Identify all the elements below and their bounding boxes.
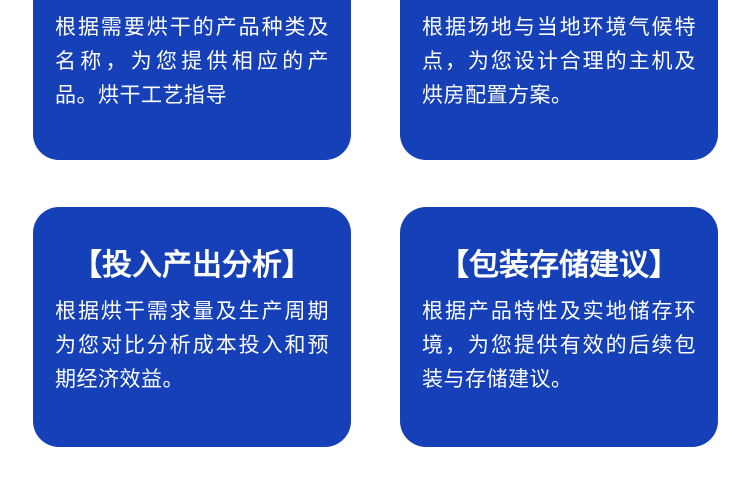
- page-root: 根据需要烘干的产品种类及名称，为您提供相应的产品。烘干工艺指导 【设备配置方案】…: [0, 0, 750, 500]
- packaging-storage-card: 【包装存储建议】 根据产品特性及实地储存环境，为您提供有效的后续包装与存储建议。: [400, 207, 718, 447]
- input-output-analysis-card-title: 【投入产出分析】: [55, 249, 329, 284]
- input-output-analysis-card-body: 根据烘干需求量及生产周期为您对比分析成本投入和预期经济效益。: [55, 294, 329, 396]
- packaging-storage-card-body: 根据产品特性及实地储存环境，为您提供有效的后续包装与存储建议。: [422, 294, 696, 396]
- equipment-config-card-body: 根据场地与当地环境气候特点，为您设计合理的主机及烘房配置方案。: [422, 10, 696, 112]
- product-type-card: 根据需要烘干的产品种类及名称，为您提供相应的产品。烘干工艺指导: [33, 0, 351, 160]
- packaging-storage-card-title: 【包装存储建议】: [422, 249, 696, 284]
- equipment-config-card: 【设备配置方案】 根据场地与当地环境气候特点，为您设计合理的主机及烘房配置方案。: [400, 0, 718, 160]
- input-output-analysis-card: 【投入产出分析】 根据烘干需求量及生产周期为您对比分析成本投入和预期经济效益。: [33, 207, 351, 447]
- product-type-card-body: 根据需要烘干的产品种类及名称，为您提供相应的产品。烘干工艺指导: [55, 10, 329, 112]
